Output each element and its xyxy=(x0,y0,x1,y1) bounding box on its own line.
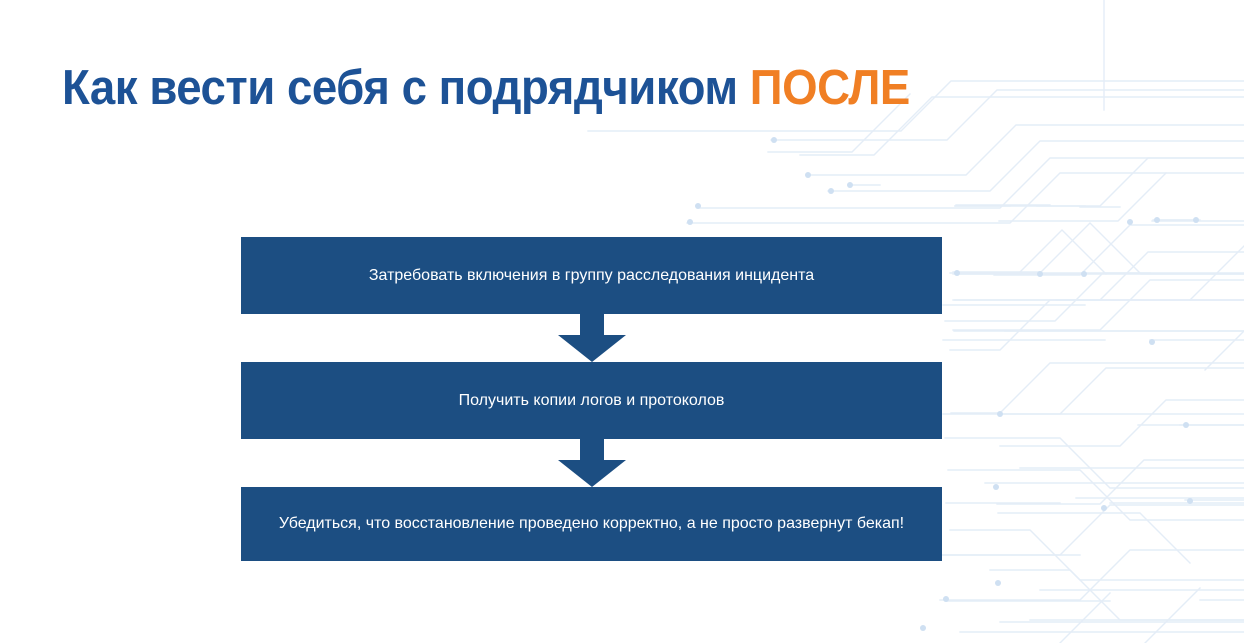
flow-step-1-label: Затребовать включения в группу расследов… xyxy=(369,266,814,286)
flow-step-2-label: Получить копии логов и протоколов xyxy=(459,391,725,411)
arrow-down-icon xyxy=(550,439,634,487)
process-flow-diagram: Затребовать включения в группу расследов… xyxy=(241,237,942,561)
page-title-primary: Как вести себя с подрядчиком xyxy=(62,61,750,115)
flow-step-3: Убедиться, что восстановление проведено … xyxy=(241,487,942,561)
page-title: Как вести себя с подрядчиком ПОСЛЕ xyxy=(62,61,910,116)
slide-canvas: Как вести себя с подрядчиком ПОСЛЕ Затре… xyxy=(0,0,1244,643)
flow-step-1: Затребовать включения в группу расследов… xyxy=(241,237,942,314)
arrow-down-icon xyxy=(550,314,634,362)
page-title-highlight: ПОСЛЕ xyxy=(750,61,910,115)
flow-connector-2 xyxy=(241,439,942,487)
flow-connector-1 xyxy=(241,314,942,362)
flow-step-3-label: Убедиться, что восстановление проведено … xyxy=(279,514,904,534)
flow-step-2: Получить копии логов и протоколов xyxy=(241,362,942,439)
